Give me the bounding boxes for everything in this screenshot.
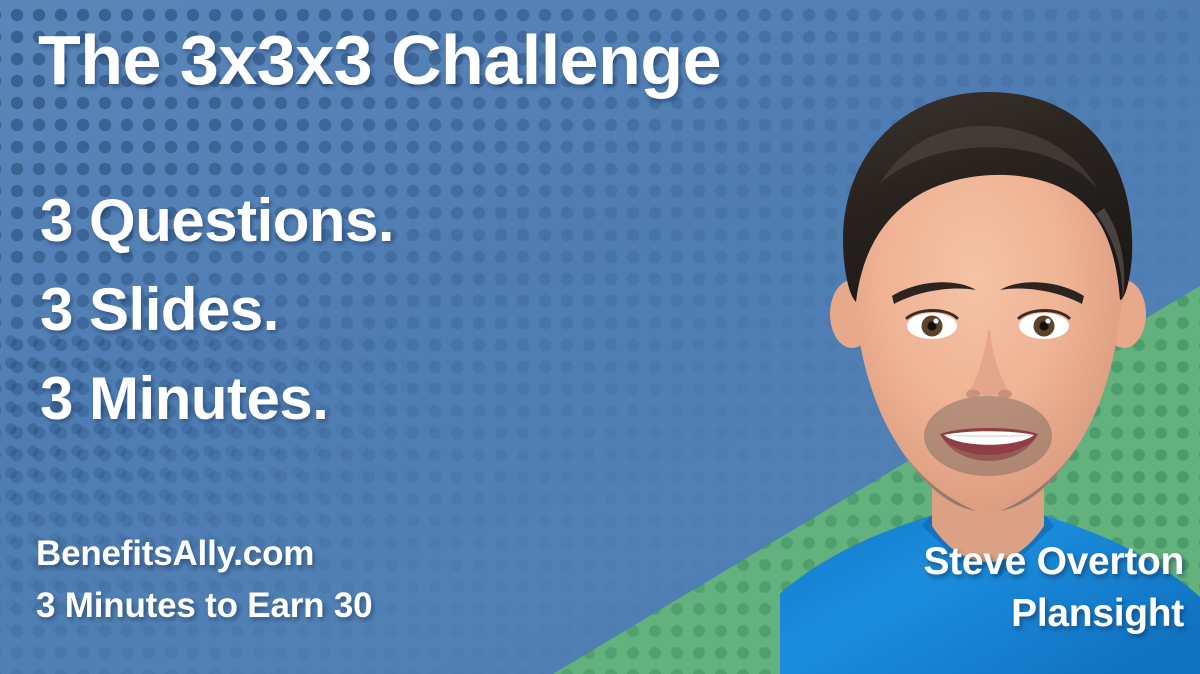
bullet-line-questions: 3 Questions. (40, 176, 394, 265)
speaker-company: Plansight (923, 588, 1184, 640)
slide-canvas: The 3x3x3 Challenge 3 Questions. 3 Slide… (0, 0, 1200, 674)
slide-headline: The 3x3x3 Challenge (38, 24, 721, 98)
bullet-line-minutes: 3 Minutes. (40, 354, 394, 443)
footer-tagline: 3 Minutes to Earn 30 (36, 580, 372, 632)
footer-branding: BenefitsAlly.com 3 Minutes to Earn 30 (36, 528, 372, 632)
speaker-credit: Steve Overton Plansight (923, 536, 1184, 640)
bullet-line-slides: 3 Slides. (40, 265, 394, 354)
website-url: BenefitsAlly.com (36, 528, 372, 580)
slide-bullet-lines: 3 Questions. 3 Slides. 3 Minutes. (40, 176, 394, 443)
speaker-name: Steve Overton (923, 536, 1184, 588)
